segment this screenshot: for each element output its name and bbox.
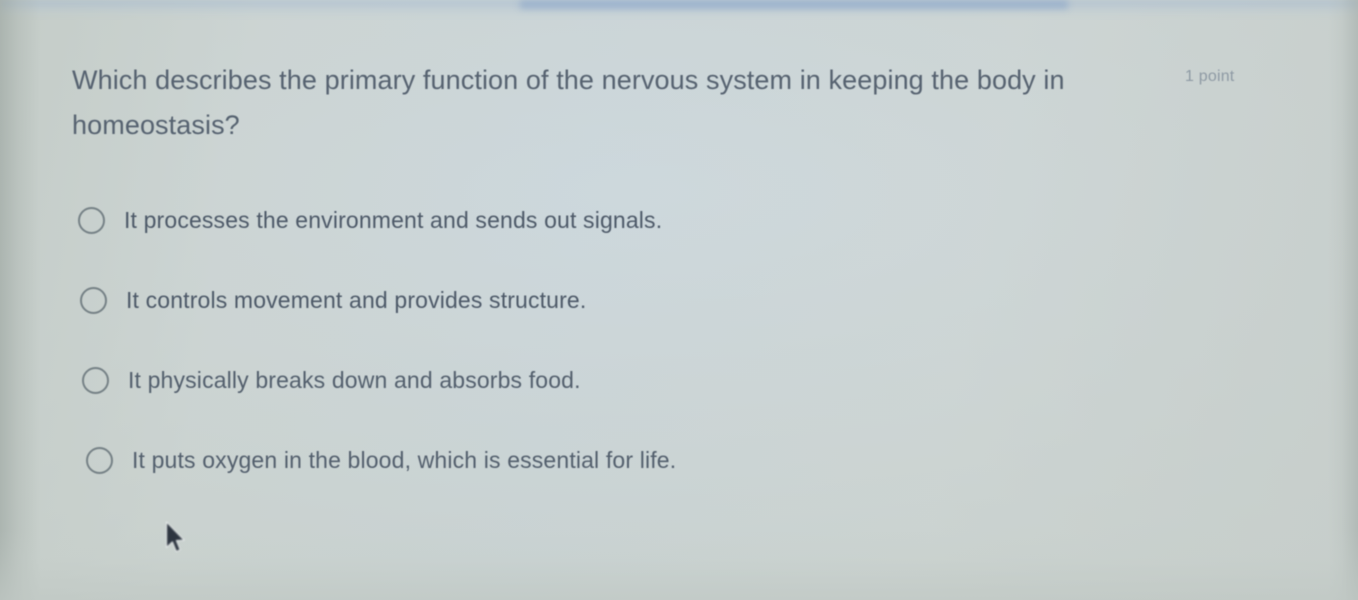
answer-option-c[interactable]: It physically breaks down and absorbs fo… xyxy=(0,358,1358,402)
radio-button-icon-a[interactable] xyxy=(78,207,105,234)
answer-option-label-a: It processes the environment and sends o… xyxy=(124,205,662,235)
answer-option-d[interactable]: It puts oxygen in the blood, which is es… xyxy=(0,438,1358,482)
answer-option-b[interactable]: It controls movement and provides struct… xyxy=(0,278,1358,322)
arrow-cursor-icon xyxy=(165,521,187,555)
answer-options-list: It processes the environment and sends o… xyxy=(0,198,1358,518)
question-text: Which describes the primary function of … xyxy=(72,58,1167,148)
radio-button-icon-d[interactable] xyxy=(86,447,113,474)
quiz-screen: Which describes the primary function of … xyxy=(0,0,1358,600)
radio-button-icon-c[interactable] xyxy=(82,367,109,394)
quiz-content: Which describes the primary function of … xyxy=(0,0,1358,600)
answer-option-label-c: It physically breaks down and absorbs fo… xyxy=(128,365,581,395)
question-row: Which describes the primary function of … xyxy=(72,58,1300,148)
answer-option-a[interactable]: It processes the environment and sends o… xyxy=(0,198,1358,242)
radio-button-icon-b[interactable] xyxy=(80,287,107,314)
points-badge: 1 point xyxy=(1185,67,1234,87)
answer-option-label-b: It controls movement and provides struct… xyxy=(126,285,586,315)
answer-option-label-d: It puts oxygen in the blood, which is es… xyxy=(132,445,676,475)
